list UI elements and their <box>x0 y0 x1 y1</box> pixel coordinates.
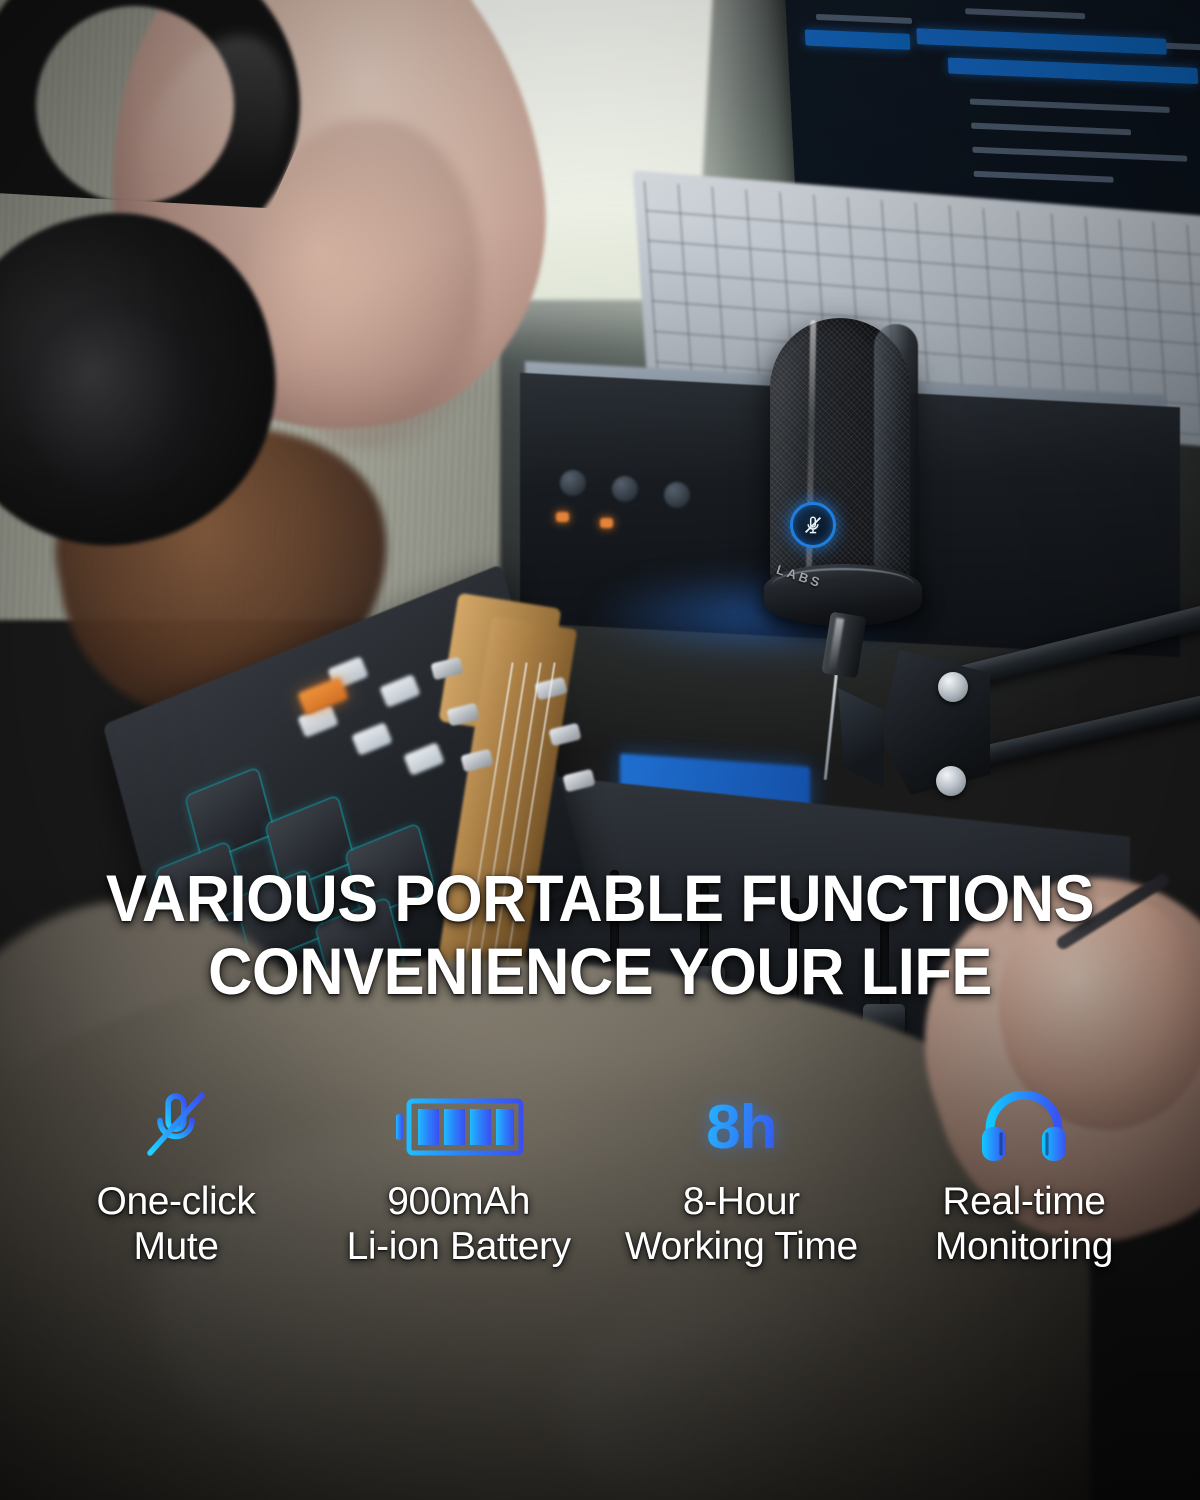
feature-label-battery: 900mAh Li-ion Battery <box>323 1179 595 1269</box>
battery-full-icon <box>393 1096 525 1160</box>
battery-icon-wrap <box>323 1085 595 1171</box>
feature-item-one-click-mute: One-click Mute <box>40 1085 312 1269</box>
hours-icon-wrap: 8h <box>605 1085 877 1171</box>
8h-text-icon: 8h <box>706 1097 776 1159</box>
product-feature-banner: LABS VARIOUS PORTABLE FUNCTIONS CONVENIE… <box>0 0 1200 1500</box>
headphones-icon <box>978 1091 1070 1165</box>
feature-label-line-1: One-click <box>97 1180 256 1223</box>
feature-label-line-1: 900mAh <box>387 1180 530 1223</box>
mute-icon-wrap <box>40 1085 312 1171</box>
headphones-icon-wrap <box>888 1085 1160 1171</box>
marketing-overlay: VARIOUS PORTABLE FUNCTIONS CONVENIENCE Y… <box>0 0 1200 1500</box>
feature-item-working-time: 8h 8-Hour Working Time <box>605 1085 877 1269</box>
feature-item-monitoring: Real-time Monitoring <box>888 1085 1160 1269</box>
feature-label-line-1: 8-Hour <box>683 1180 800 1223</box>
page-title: VARIOUS PORTABLE FUNCTIONS CONVENIENCE Y… <box>42 862 1158 1007</box>
feature-list: One-click Mute <box>40 1085 1160 1269</box>
feature-label-working-time: 8-Hour Working Time <box>605 1179 877 1269</box>
feature-label-line-1: Real-time <box>942 1180 1105 1223</box>
feature-label-line-2: Working Time <box>605 1224 877 1269</box>
feature-label-one-click-mute: One-click Mute <box>40 1179 312 1269</box>
feature-label-monitoring: Real-time Monitoring <box>888 1179 1160 1269</box>
feature-item-battery: 900mAh Li-ion Battery <box>323 1085 595 1269</box>
feature-label-line-2: Mute <box>40 1224 312 1269</box>
feature-label-line-2: Monitoring <box>888 1224 1160 1269</box>
headline-line-2: CONVENIENCE YOUR LIFE <box>42 935 1158 1008</box>
headline-line-1: VARIOUS PORTABLE FUNCTIONS <box>106 861 1094 935</box>
mic-mute-icon <box>140 1087 212 1169</box>
feature-label-line-2: Li-ion Battery <box>323 1224 595 1269</box>
